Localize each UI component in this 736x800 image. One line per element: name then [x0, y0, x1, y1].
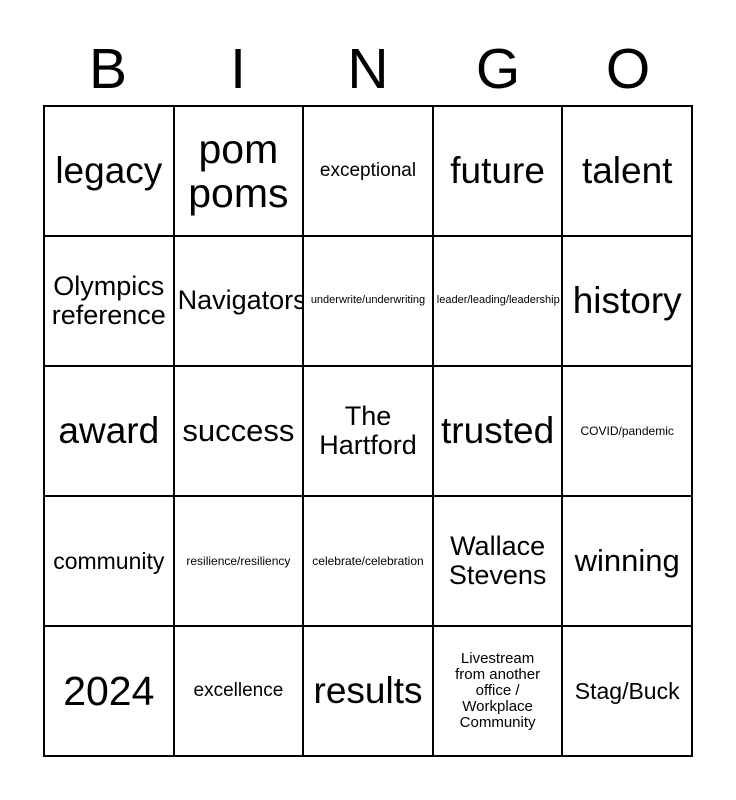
bingo-cell-label: history	[566, 281, 688, 321]
bingo-cell[interactable]: future	[434, 107, 564, 237]
bingo-cell[interactable]: excellence	[175, 627, 305, 757]
bingo-cell[interactable]: award	[45, 367, 175, 497]
bingo-cell[interactable]: community	[45, 497, 175, 627]
bingo-cell-label: winning	[566, 544, 688, 577]
bingo-cell-label: pom poms	[178, 127, 300, 216]
bingo-header: BINGO	[43, 36, 693, 102]
bingo-cell-label: legacy	[48, 151, 170, 191]
bingo-cell[interactable]: talent	[563, 107, 693, 237]
bingo-cell-label: The Hartford	[307, 402, 429, 460]
bingo-header-letter-g: G	[433, 36, 563, 102]
bingo-cell-label: Navigators	[178, 286, 300, 315]
bingo-cell[interactable]: Olympics reference	[45, 237, 175, 367]
bingo-cell-label: Stag/Buck	[566, 679, 688, 704]
bingo-cell[interactable]: underwrite/underwriting	[304, 237, 434, 367]
bingo-cell[interactable]: Stag/Buck	[563, 627, 693, 757]
bingo-cell[interactable]: leader/leading/leadership	[434, 237, 564, 367]
bingo-grid: legacypom pomsexceptionalfuturetalentOly…	[43, 105, 693, 757]
bingo-cell-label: resilience/resiliency	[178, 555, 300, 568]
bingo-cell-label: Wallace Stevens	[437, 532, 559, 590]
bingo-cell[interactable]: history	[563, 237, 693, 367]
bingo-cell-label: celebrate/celebration	[307, 555, 429, 568]
bingo-cell[interactable]: results	[304, 627, 434, 757]
bingo-cell-label: COVID/pandemic	[566, 425, 688, 438]
bingo-cell-label: excellence	[178, 681, 300, 702]
bingo-cell-label: exceptional	[307, 161, 429, 182]
bingo-cell[interactable]: Navigators	[175, 237, 305, 367]
bingo-header-letter-o: O	[563, 36, 693, 102]
bingo-cell-label: success	[178, 414, 300, 447]
bingo-cell[interactable]: resilience/resiliency	[175, 497, 305, 627]
bingo-cell-label: talent	[566, 151, 688, 191]
bingo-cell[interactable]: Livestream from another office / Workpla…	[434, 627, 564, 757]
bingo-header-letter-i: I	[173, 36, 303, 102]
bingo-cell[interactable]: celebrate/celebration	[304, 497, 434, 627]
bingo-cell[interactable]: pom poms	[175, 107, 305, 237]
bingo-cell-label: Olympics reference	[48, 272, 170, 330]
bingo-cell[interactable]: COVID/pandemic	[563, 367, 693, 497]
bingo-cell-label: leader/leading/leadership	[437, 295, 559, 307]
bingo-cell-label: award	[48, 411, 170, 451]
bingo-cell-label: Livestream from another office / Workpla…	[437, 651, 559, 732]
bingo-header-letter-n: N	[303, 36, 433, 102]
bingo-cell[interactable]: exceptional	[304, 107, 434, 237]
bingo-cell-label: trusted	[437, 411, 559, 451]
bingo-header-letter-b: B	[43, 36, 173, 102]
bingo-cell[interactable]: legacy	[45, 107, 175, 237]
bingo-cell-label: underwrite/underwriting	[307, 295, 429, 307]
bingo-cell-label: community	[48, 549, 170, 574]
bingo-cell[interactable]: winning	[563, 497, 693, 627]
bingo-cell-label: future	[437, 151, 559, 191]
bingo-cell[interactable]: Wallace Stevens	[434, 497, 564, 627]
bingo-cell[interactable]: The Hartford	[304, 367, 434, 497]
bingo-cell[interactable]: 2024	[45, 627, 175, 757]
bingo-cell-label: 2024	[48, 669, 170, 713]
bingo-card: BINGO legacypom pomsexceptionalfuturetal…	[0, 0, 736, 800]
bingo-cell-label: results	[307, 671, 429, 711]
bingo-cell[interactable]: success	[175, 367, 305, 497]
bingo-cell[interactable]: trusted	[434, 367, 564, 497]
